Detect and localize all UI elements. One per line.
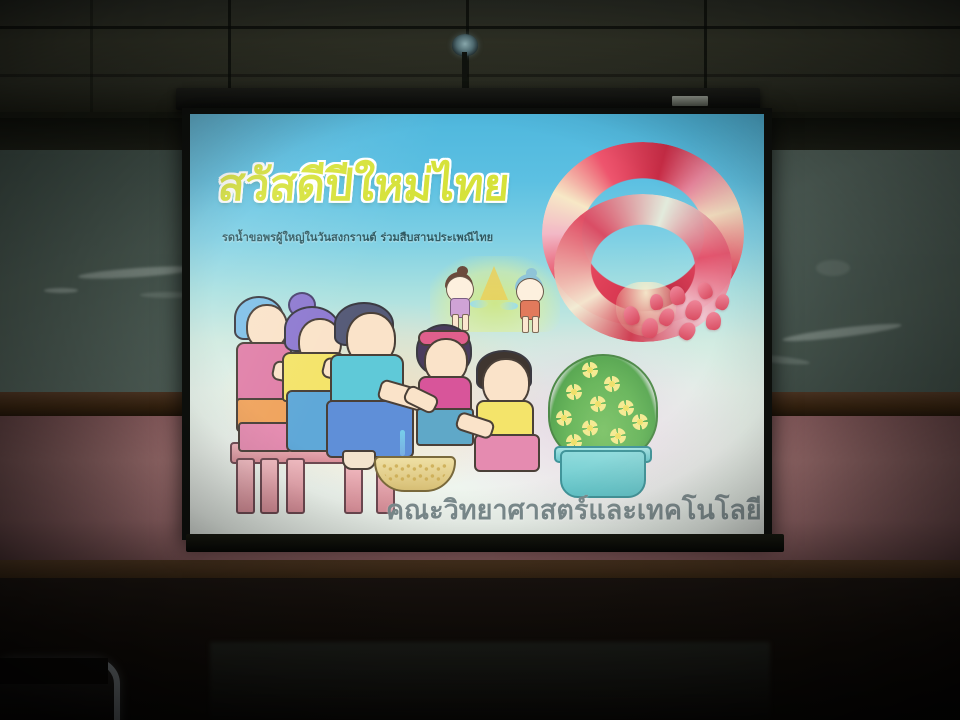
projected-slide: สวัสดีปีใหม่ไทย รดน้ำขอพรผู้ใหญ่ในวันสงก… bbox=[190, 114, 764, 534]
slide-footer-faculty: คณะวิทยาศาสตร์และเทคโนโลยี bbox=[386, 488, 762, 531]
sprinkler-stem bbox=[462, 52, 467, 92]
stage-front-panel bbox=[210, 642, 770, 720]
slide-subtitle: รดน้ำขอพรผู้ใหญ่ในวันสงกรานต์ ร่วมสืบสาน… bbox=[222, 228, 493, 246]
classroom-scene: สวัสดีปีใหม่ไทย รดน้ำขอพรผู้ใหญ่ในวันสงก… bbox=[0, 0, 960, 720]
screen-bottom-bar[interactable] bbox=[186, 534, 784, 552]
family-water-blessing-icon bbox=[226, 290, 556, 510]
water-basin-icon bbox=[374, 456, 456, 492]
potted-flower-plant-icon bbox=[542, 354, 660, 494]
screen-brand-badge-icon bbox=[672, 96, 708, 106]
slide-title: สวัสดีปีใหม่ไทย bbox=[216, 164, 511, 208]
chair-occlusion bbox=[0, 658, 108, 684]
